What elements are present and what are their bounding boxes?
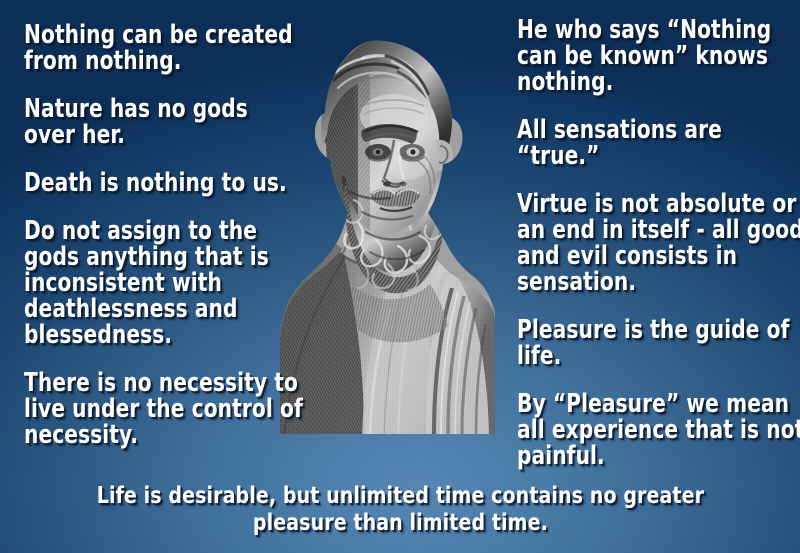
quote-item: He who says “Nothing can be known” knows… — [517, 17, 800, 95]
quote-item: Death is nothing to us. — [24, 170, 306, 196]
caption-line-1: Life is desirable, but unlimited time co… — [96, 482, 703, 509]
caption-line-2: pleasure than limited time. — [96, 509, 703, 536]
quote-item: Pleasure is the guide of life. — [517, 317, 800, 369]
right-quote-column: He who says “Nothing can be known” knows… — [517, 17, 800, 469]
epicurus-quote-poster: Nothing can be created from nothing. Nat… — [0, 0, 800, 553]
quote-item: Nature has no gods over her. — [24, 96, 306, 148]
quote-item: All sensations are “true.” — [517, 117, 800, 169]
quote-item: Do not assign to the gods anything that … — [24, 218, 306, 348]
quote-item: Nothing can be created from nothing. — [24, 22, 306, 74]
quote-item: There is no necessity to live under the … — [24, 370, 306, 448]
bottom-caption: Life is desirable, but unlimited time co… — [0, 482, 800, 536]
quote-item: By “Pleasure” we mean all experience tha… — [517, 391, 800, 469]
caption-inner: Life is desirable, but unlimited time co… — [96, 482, 703, 536]
quote-item: Virtue is not absolute or an end in itse… — [517, 191, 800, 295]
left-quote-column: Nothing can be created from nothing. Nat… — [24, 22, 306, 448]
